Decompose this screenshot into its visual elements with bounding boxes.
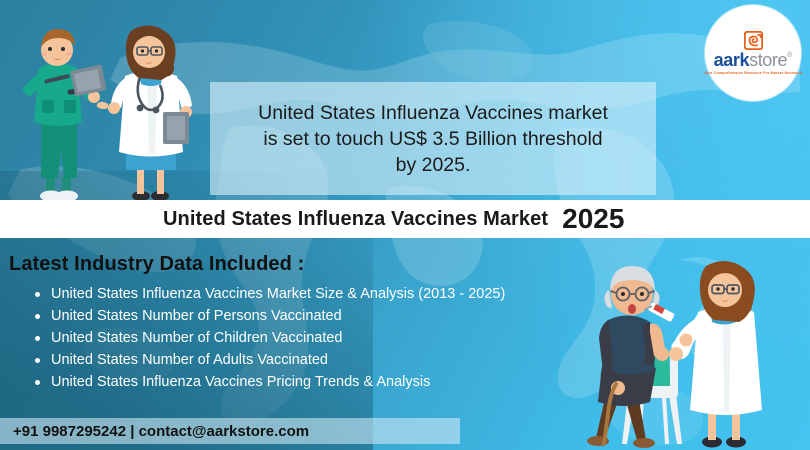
page-title: United States Influenza Vaccines Market [163,208,548,231]
section-heading: Latest Industry Data Included : [9,253,304,276]
logo-tagline: Your Comprehensive Resource For Market R… [704,71,802,75]
callout-line-1: United States Influenza Vaccines market [258,100,608,126]
headline-callout-box: United States Influenza Vaccines market … [210,82,656,195]
female-doctor-figure [97,25,192,201]
industry-data-list: United States Influenza Vaccines Market … [30,285,530,395]
list-item: United States Influenza Vaccines Pricing… [30,373,530,391]
male-nurse-figure [22,29,100,202]
logo-word-aark: aark [714,51,749,69]
contact-details[interactable]: +91 9987295242 | contact@aarkstore.com [13,423,309,440]
title-year: 2025 [562,203,624,235]
spiral-a-mark-icon [744,31,763,50]
male-nurse-and-female-doctor-illustration [8,16,200,206]
title-band: United States Influenza Vaccines Market … [0,200,810,238]
list-item: United States Number of Children Vaccina… [30,329,530,347]
callout-line-2: is set to touch US$ 3.5 Billion threshol… [263,126,602,152]
aarkstore-logo[interactable]: aark store ® Your Comprehensive Resource… [705,5,801,101]
list-item: United States Influenza Vaccines Market … [30,285,530,303]
contact-bar[interactable]: +91 9987295242 | contact@aarkstore.com [0,418,460,444]
logo-word-store: store [749,51,787,69]
poster-canvas: aark store ® Your Comprehensive Resource… [0,0,810,450]
list-item: United States Number of Persons Vaccinat… [30,307,530,325]
registered-mark-icon: ® [787,52,792,59]
list-item: United States Number of Adults Vaccinate… [30,351,530,369]
callout-line-3: by 2025. [396,152,471,178]
logo-wordmark: aark store ® [714,51,793,69]
